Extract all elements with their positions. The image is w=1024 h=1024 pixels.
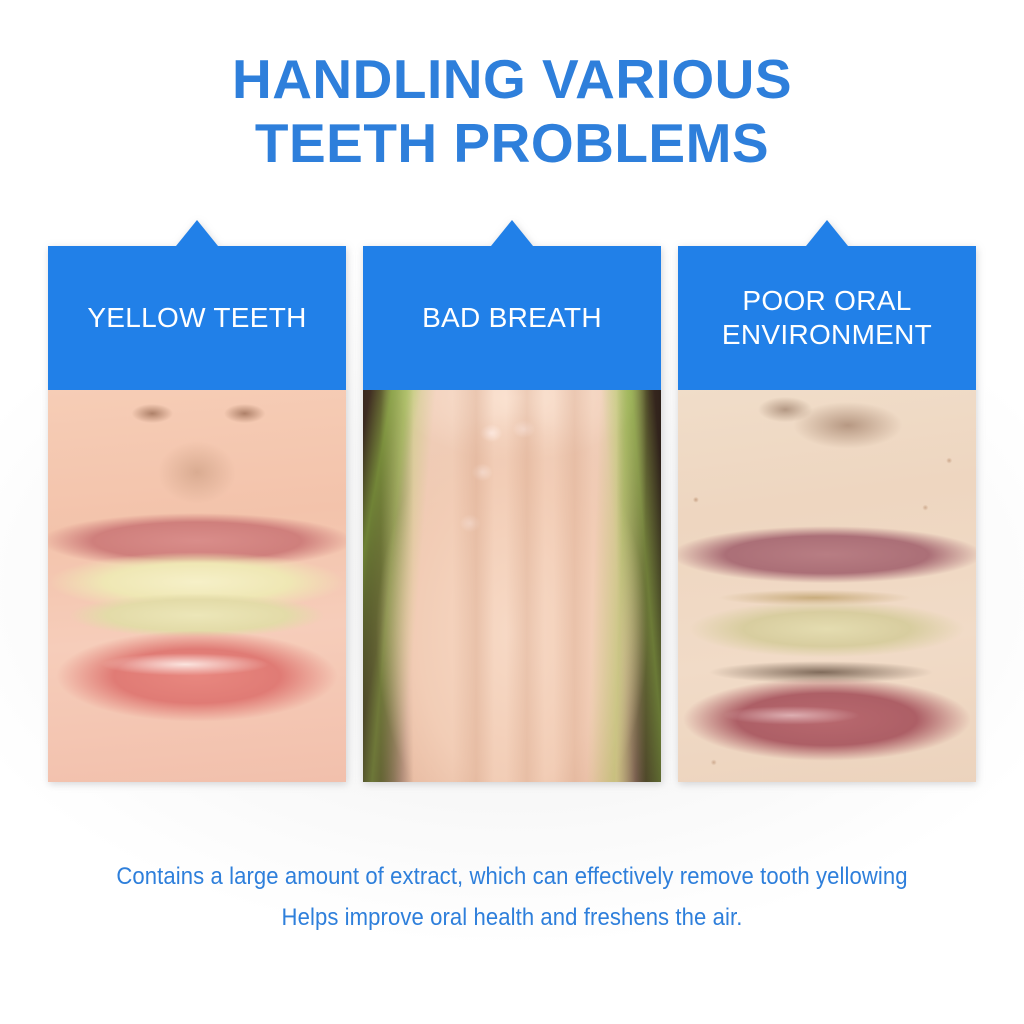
caption-line-1: Contains a large amount of extract, whic… [41, 856, 983, 897]
card-pointer-triangle-icon [176, 220, 218, 246]
page-title-line-2: TEETH PROBLEMS [0, 112, 1024, 176]
card-header-bad-breath: BAD BREATH [363, 246, 661, 390]
card-label-yellow-teeth: YELLOW TEETH [87, 301, 306, 335]
page-title-line-1: HANDLING VARIOUS [0, 48, 1024, 112]
card-pointer-triangle-icon [806, 220, 848, 246]
card-photo-yellow-teeth [48, 390, 346, 782]
problem-card-bad-breath[interactable]: BAD BREATH [363, 220, 661, 782]
caption-block: Contains a large amount of extract, whic… [0, 856, 1024, 939]
card-label-poor-oral-environment: POOR ORAL ENVIRONMENT [712, 284, 942, 352]
card-pointer-triangle-icon [491, 220, 533, 246]
card-label-bad-breath: BAD BREATH [422, 301, 602, 335]
caption-line-2: Helps improve oral health and freshens t… [41, 897, 983, 938]
poster-canvas: HANDLING VARIOUS TEETH PROBLEMS YELLOW T… [0, 0, 1024, 1024]
card-photo-bad-breath [363, 390, 661, 782]
card-header-poor-oral-environment: POOR ORAL ENVIRONMENT [678, 246, 976, 390]
problem-card-poor-oral-environment[interactable]: POOR ORAL ENVIRONMENT [678, 220, 976, 782]
problem-card-yellow-teeth[interactable]: YELLOW TEETH [48, 220, 346, 782]
page-title: HANDLING VARIOUS TEETH PROBLEMS [0, 48, 1024, 176]
card-photo-poor-oral-environment [678, 390, 976, 782]
card-header-yellow-teeth: YELLOW TEETH [48, 246, 346, 390]
problem-card-row: YELLOW TEETH BAD BREATH POOR ORAL ENVIRO… [48, 220, 976, 782]
